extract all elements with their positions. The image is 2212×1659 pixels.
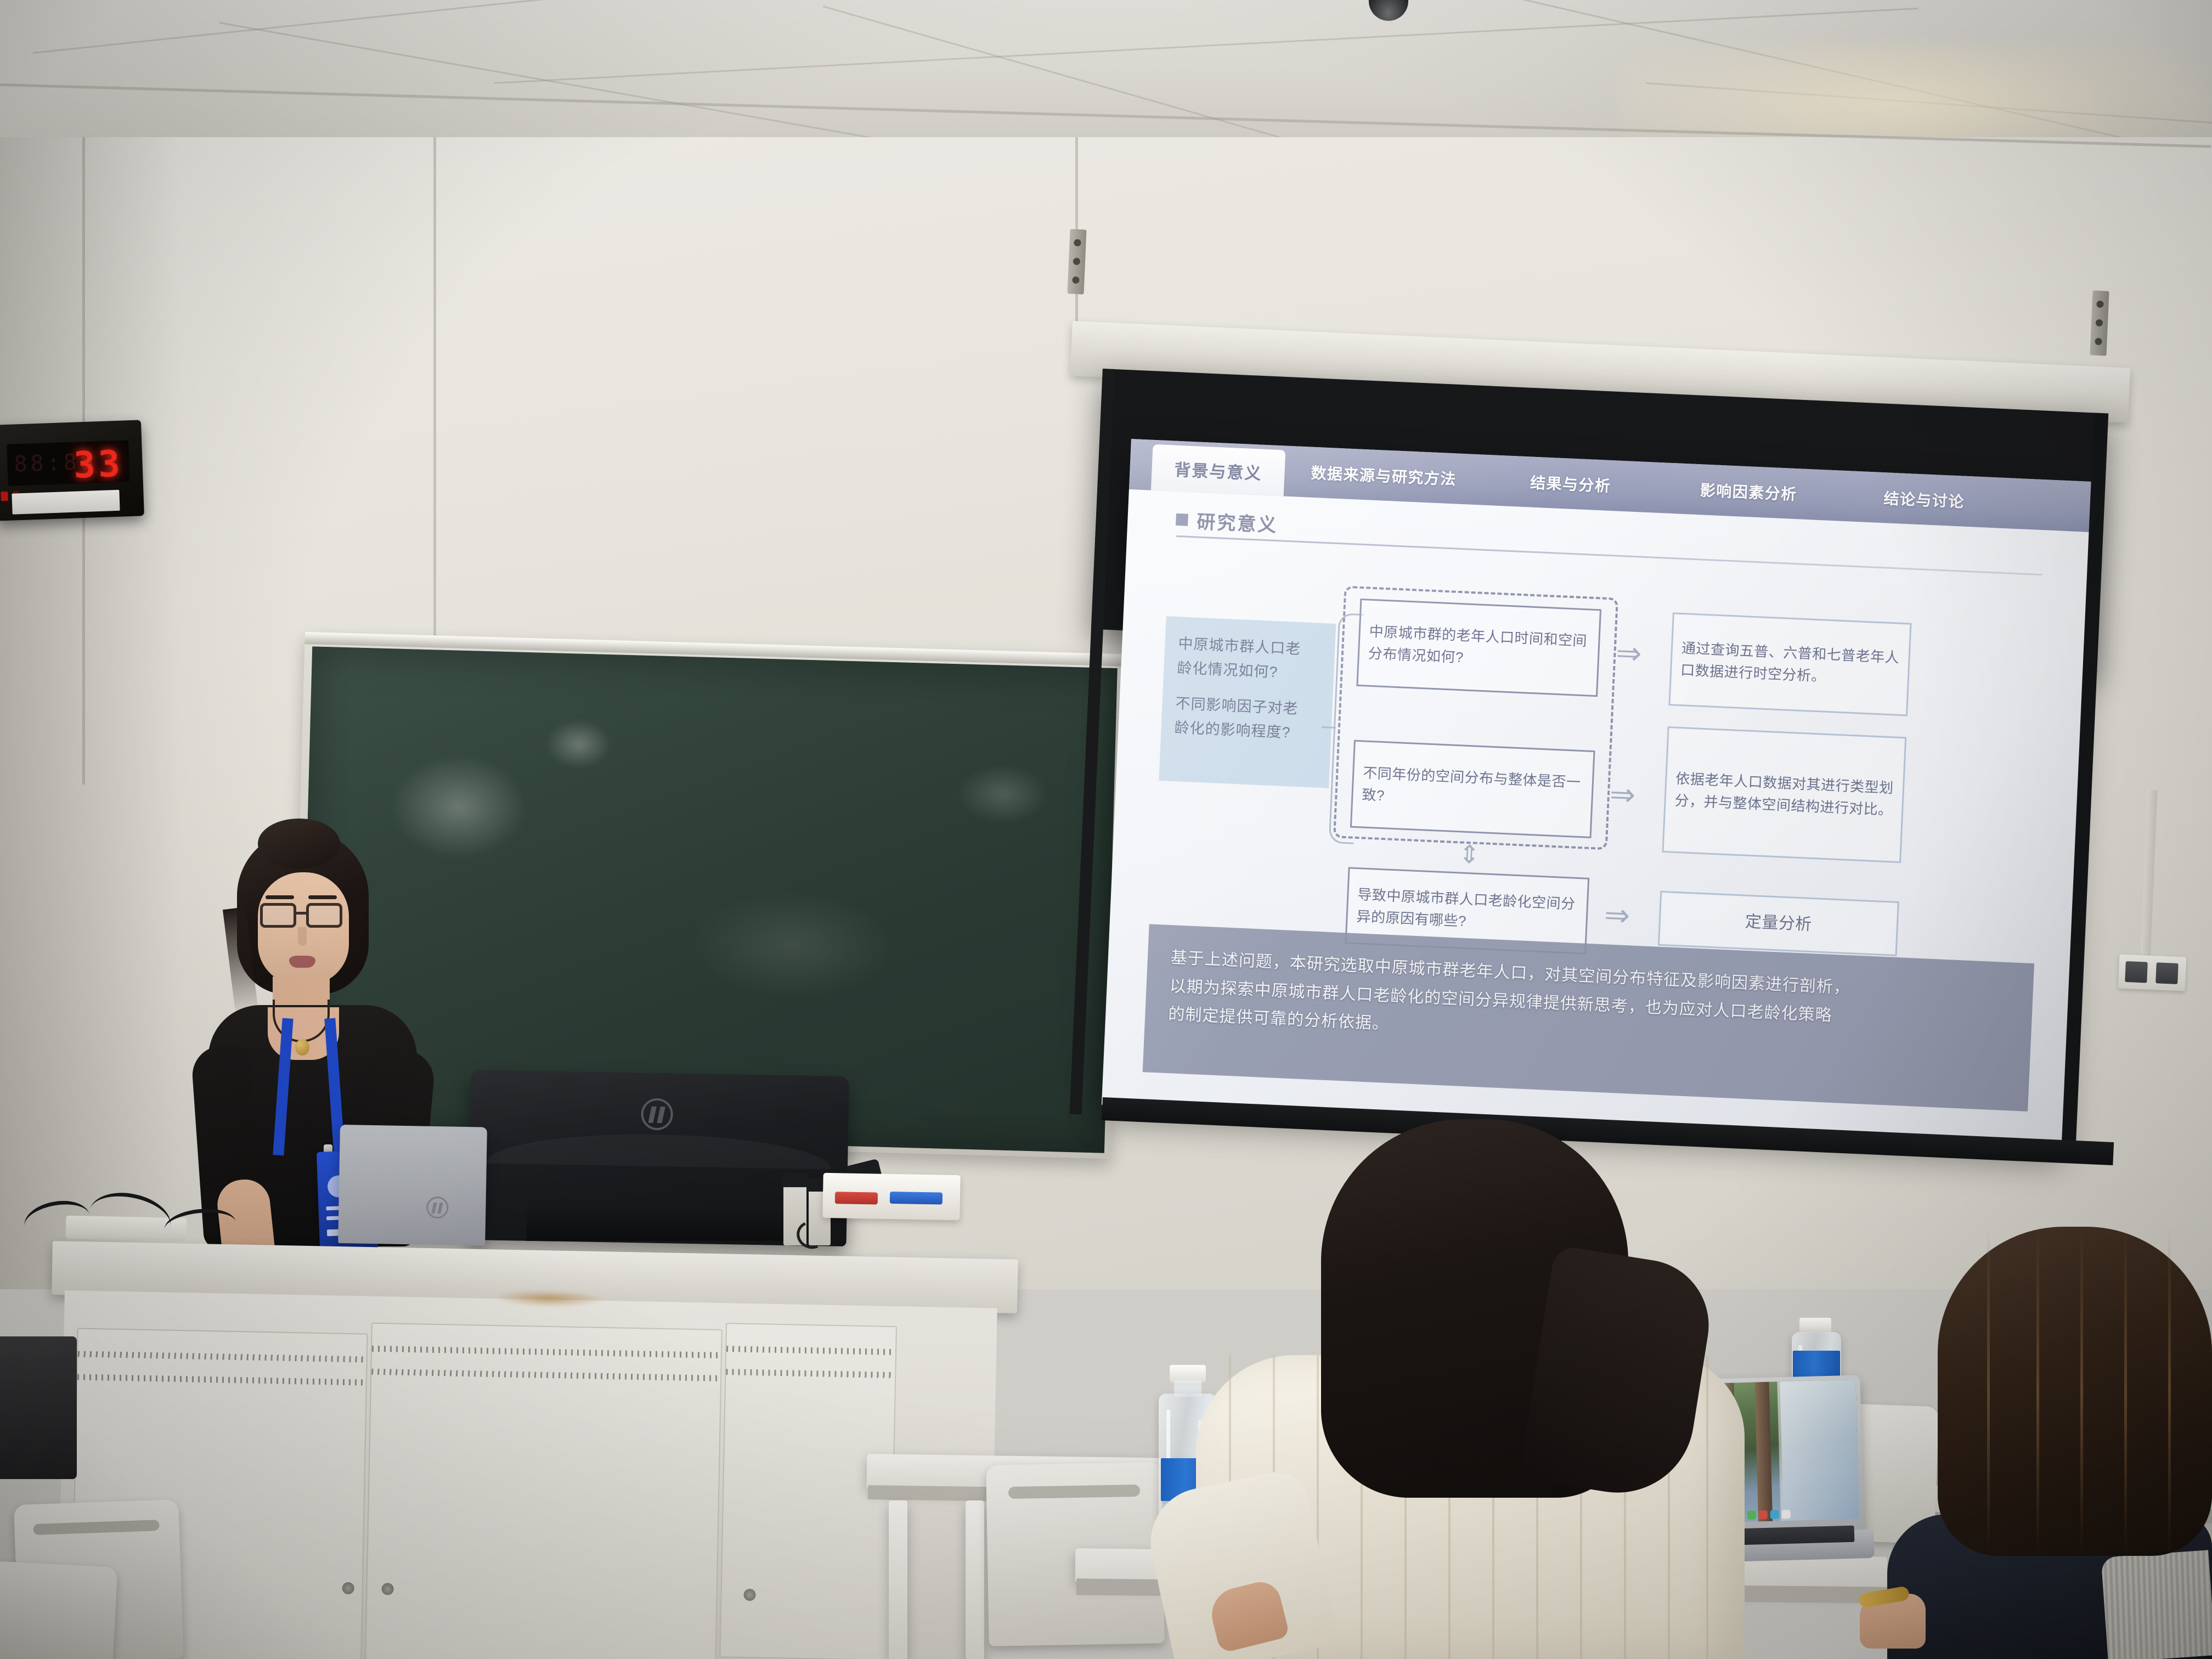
nav-tab-results-analysis[interactable]: 结果与分析 (1530, 471, 1611, 496)
wall-switch-button-2[interactable] (2155, 962, 2179, 984)
audience-right-knit-collar (2101, 1550, 2212, 1659)
flow-question-mid: 不同年份的空间分布与整体是否一致? (1350, 740, 1595, 838)
podium-stain (494, 1289, 604, 1308)
nav-tab-background-significance[interactable]: 背景与意义 (1151, 444, 1285, 496)
section-underline (1176, 535, 2042, 575)
square-bullet-icon (1176, 513, 1188, 526)
wall-shadow (0, 137, 181, 1289)
chair-far-left-2 (0, 1560, 118, 1659)
macbook-wallpaper-sky (1780, 1380, 1859, 1521)
macbook-wallpaper-tree (1754, 1382, 1773, 1522)
classroom-presentation-photo: 88:88 33 背景与意义 数据来源与研究方法 结果与分析 影响 (0, 0, 2212, 1659)
screen-bracket-right (2090, 290, 2109, 356)
cabinet-door-center[interactable] (365, 1323, 723, 1659)
dock-mail-icon[interactable] (1759, 1510, 1768, 1519)
flow-answer-top: 通过查询五普、六普和七普老年人口数据进行时空分析。 (1668, 612, 1911, 716)
presenter-pendant (295, 1039, 309, 1056)
desk-device-1-cap (782, 1173, 808, 1187)
floor-equipment-box (0, 1336, 77, 1479)
screen-bracket-left (1067, 229, 1086, 294)
monitor-stand-base (527, 1207, 785, 1241)
flow-answer-mid-text: 依据老年人口数据对其进行类型划分，并与整体空间结构进行对比。 (1666, 768, 1903, 822)
water-bottle-2-cap (1799, 1318, 1831, 1333)
monitor-back-contour (486, 1132, 832, 1170)
clock-digits: 33 (73, 443, 123, 486)
presenter-nose (298, 927, 307, 946)
presenter-glasses-left-lens (260, 903, 296, 928)
dock-safari-icon[interactable] (1770, 1510, 1779, 1519)
flow-answer-mid: 依据老年人口数据对其进行类型划分，并与整体空间结构进行对比。 (1662, 726, 1906, 863)
presenter-glasses-right-lens (306, 903, 342, 928)
flow-answer-top-text: 通过查询五普、六普和七普老年人口数据进行时空分析。 (1671, 637, 1909, 691)
flow-answer-bottom-text: 定量分析 (1736, 909, 1821, 938)
clock-display: 88:88 33 (7, 440, 130, 486)
wall-switch-plate[interactable] (2118, 954, 2186, 991)
flow-arrow-mid-icon: ⇒ (1609, 778, 1636, 810)
flow-arrow-bottom-icon: ⇒ (1604, 899, 1630, 931)
cabinet-lock-icon-right[interactable] (743, 1589, 755, 1601)
presentation-slide: 背景与意义 数据来源与研究方法 结果与分析 影响因素分析 结论与讨论 研究意义 … (1102, 439, 2091, 1148)
flow-answer-bottom: 定量分析 (1658, 891, 1899, 956)
student-desk-leg-right (966, 1500, 984, 1659)
dock-app-icon[interactable] (1782, 1510, 1791, 1519)
hp-logo-icon (641, 1098, 673, 1130)
flow-arrow-top-icon: ⇒ (1615, 637, 1642, 669)
student-desk-leg-left (889, 1500, 907, 1659)
flow-question-top: 中原城市群的老年人口时间和空间分布情况如何? (1356, 599, 1601, 697)
clock-label-strip (12, 490, 120, 515)
flow-bidirectional-arrow-icon: ⇕ (1458, 841, 1481, 867)
flow-question-mid-text: 不同年份的空间分布与整体是否一致? (1353, 762, 1593, 816)
research-question-panel: 中原城市群人口老 龄化情况如何? 不同影响因子对老 龄化的影响程度? (1159, 616, 1336, 788)
hp-laptop (338, 1125, 487, 1246)
flow-question-bottom-text: 导致中原城市群人口老龄化空间分异的原因有哪些? (1347, 884, 1587, 938)
podium-cabinet (58, 1290, 997, 1659)
clock-indicator-icon (1, 492, 8, 501)
presenter-eyebrow-left (266, 895, 294, 899)
presenter-glasses-bridge (295, 912, 308, 915)
nav-tab-influence-factors[interactable]: 影响因素分析 (1700, 478, 1798, 505)
presenter-hair-bun (258, 819, 340, 869)
cabinet-lock-icon-center[interactable] (381, 1583, 393, 1595)
presenter-mouth (289, 956, 315, 968)
led-clock: 88:88 33 (0, 420, 144, 521)
chalk-blue (890, 1192, 943, 1205)
wall-switch-button-1[interactable] (2125, 961, 2148, 983)
dock-messages-icon[interactable] (1747, 1511, 1756, 1520)
section-title: 研究意义 (1196, 506, 1278, 537)
nav-tab-data-methods[interactable]: 数据来源与研究方法 (1311, 461, 1457, 490)
audience-right-hair (1938, 1227, 2212, 1556)
chalk-tray (822, 1173, 960, 1220)
presenter-eyebrow-right (308, 895, 337, 899)
conclusion-paragraph: 基于上述问题，本研究选取中原城市群老年人口，对其空间分布特征及影响因素进行剖析，… (1143, 924, 2034, 1111)
flow-question-top-text: 中原城市群的老年人口时间和空间分布情况如何? (1359, 620, 1599, 674)
section-header: 研究意义 (1175, 506, 1278, 537)
chalk-red (835, 1192, 878, 1204)
nav-tab-conclusion-discussion[interactable]: 结论与讨论 (1883, 487, 1965, 512)
cabinet-lock-icon-left[interactable] (342, 1582, 354, 1594)
bottle-1-highlight (1166, 1410, 1170, 1465)
hp-laptop-logo-icon (426, 1197, 449, 1219)
